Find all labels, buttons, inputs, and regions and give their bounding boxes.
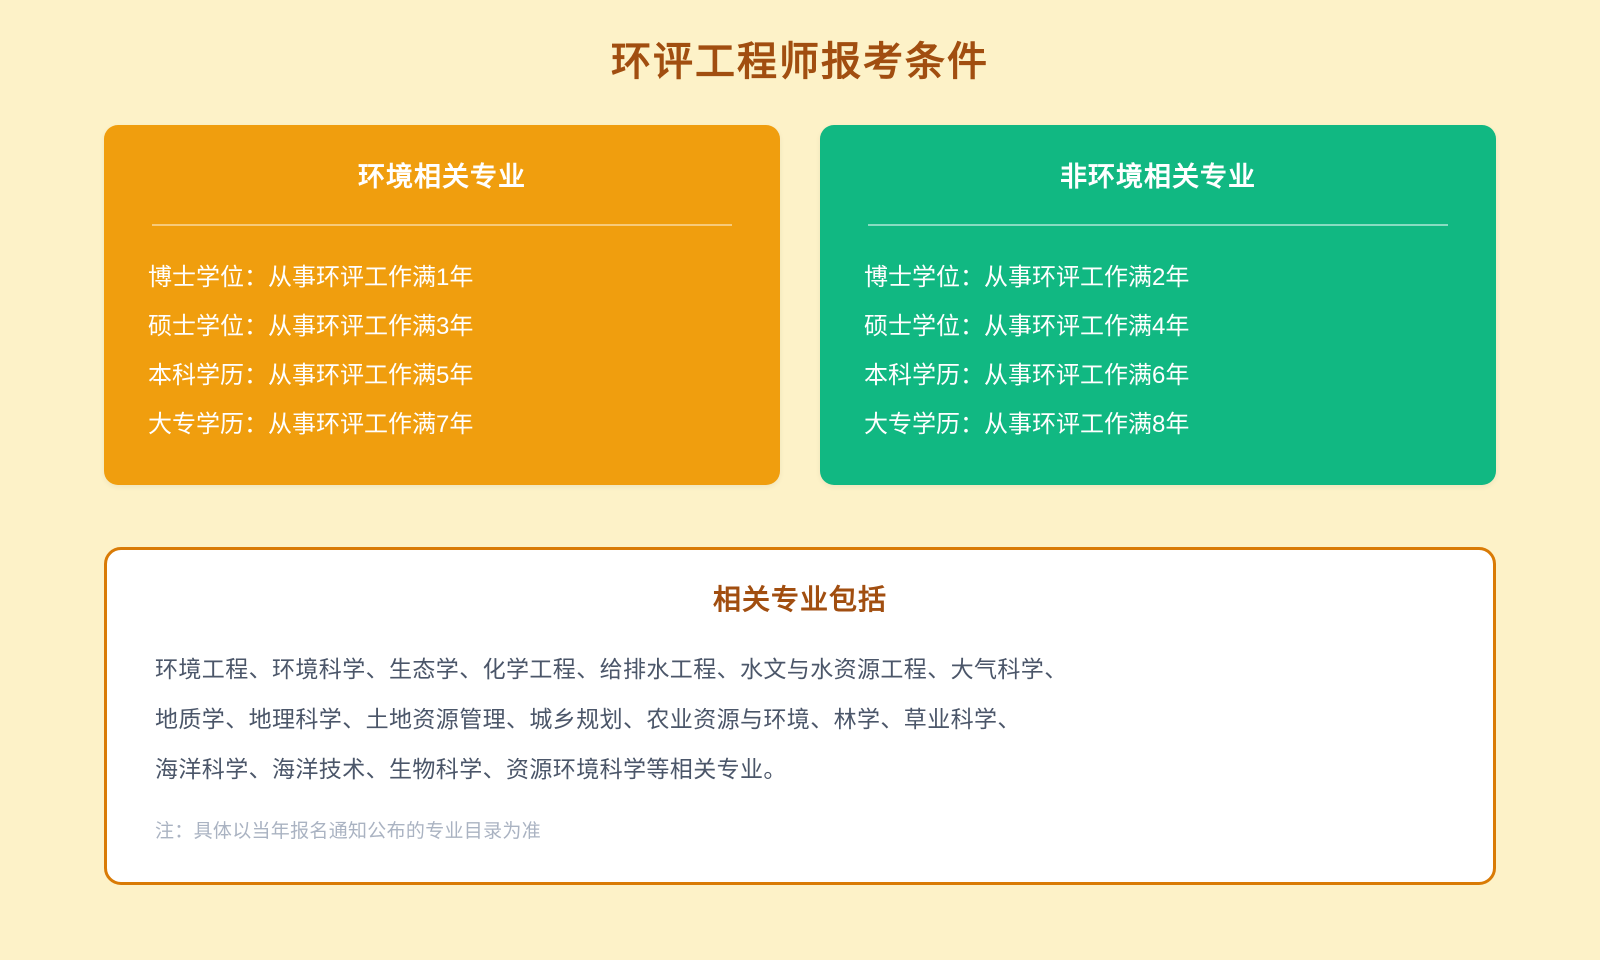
card-divider: [152, 224, 732, 226]
list-item: 博士学位：从事环评工作满2年: [864, 253, 1452, 302]
condition-cards-row: 环境相关专业 博士学位：从事环评工作满1年 硕士学位：从事环评工作满3年 本科学…: [0, 125, 1600, 485]
majors-line: 地质学、地理科学、土地资源管理、城乡规划、农业资源与环境、林学、草业科学、: [155, 694, 1445, 744]
condition-list: 博士学位：从事环评工作满2年 硕士学位：从事环评工作满4年 本科学历：从事环评工…: [864, 253, 1452, 449]
infographic-page: 环评工程师报考条件 环境相关专业 博士学位：从事环评工作满1年 硕士学位：从事环…: [0, 0, 1600, 960]
majors-line: 海洋科学、海洋技术、生物科学、资源环境科学等相关专业。: [155, 744, 1445, 794]
page-title: 环评工程师报考条件: [0, 0, 1600, 86]
list-item: 大专学历：从事环评工作满8年: [864, 400, 1452, 449]
condition-card-non-environment-major: 非环境相关专业 博士学位：从事环评工作满2年 硕士学位：从事环评工作满4年 本科…: [820, 125, 1496, 485]
list-item: 大专学历：从事环评工作满7年: [148, 400, 736, 449]
list-item: 硕士学位：从事环评工作满3年: [148, 302, 736, 351]
related-majors-card: 相关专业包括 环境工程、环境科学、生态学、化学工程、给排水工程、水文与水资源工程…: [104, 547, 1496, 885]
related-majors-title: 相关专业包括: [155, 578, 1445, 618]
condition-list: 博士学位：从事环评工作满1年 硕士学位：从事环评工作满3年 本科学历：从事环评工…: [148, 253, 736, 449]
condition-card-title: 非环境相关专业: [864, 155, 1452, 199]
list-item: 本科学历：从事环评工作满6年: [864, 351, 1452, 400]
list-item: 硕士学位：从事环评工作满4年: [864, 302, 1452, 351]
majors-line: 环境工程、环境科学、生态学、化学工程、给排水工程、水文与水资源工程、大气科学、: [155, 644, 1445, 694]
card-divider: [868, 224, 1448, 226]
list-item: 本科学历：从事环评工作满5年: [148, 351, 736, 400]
condition-card-environment-major: 环境相关专业 博士学位：从事环评工作满1年 硕士学位：从事环评工作满3年 本科学…: [104, 125, 780, 485]
list-item: 博士学位：从事环评工作满1年: [148, 253, 736, 302]
majors-note: 注：具体以当年报名通知公布的专业目录为准: [155, 816, 1445, 848]
condition-card-title: 环境相关专业: [148, 155, 736, 199]
related-majors-body: 环境工程、环境科学、生态学、化学工程、给排水工程、水文与水资源工程、大气科学、 …: [155, 644, 1445, 794]
